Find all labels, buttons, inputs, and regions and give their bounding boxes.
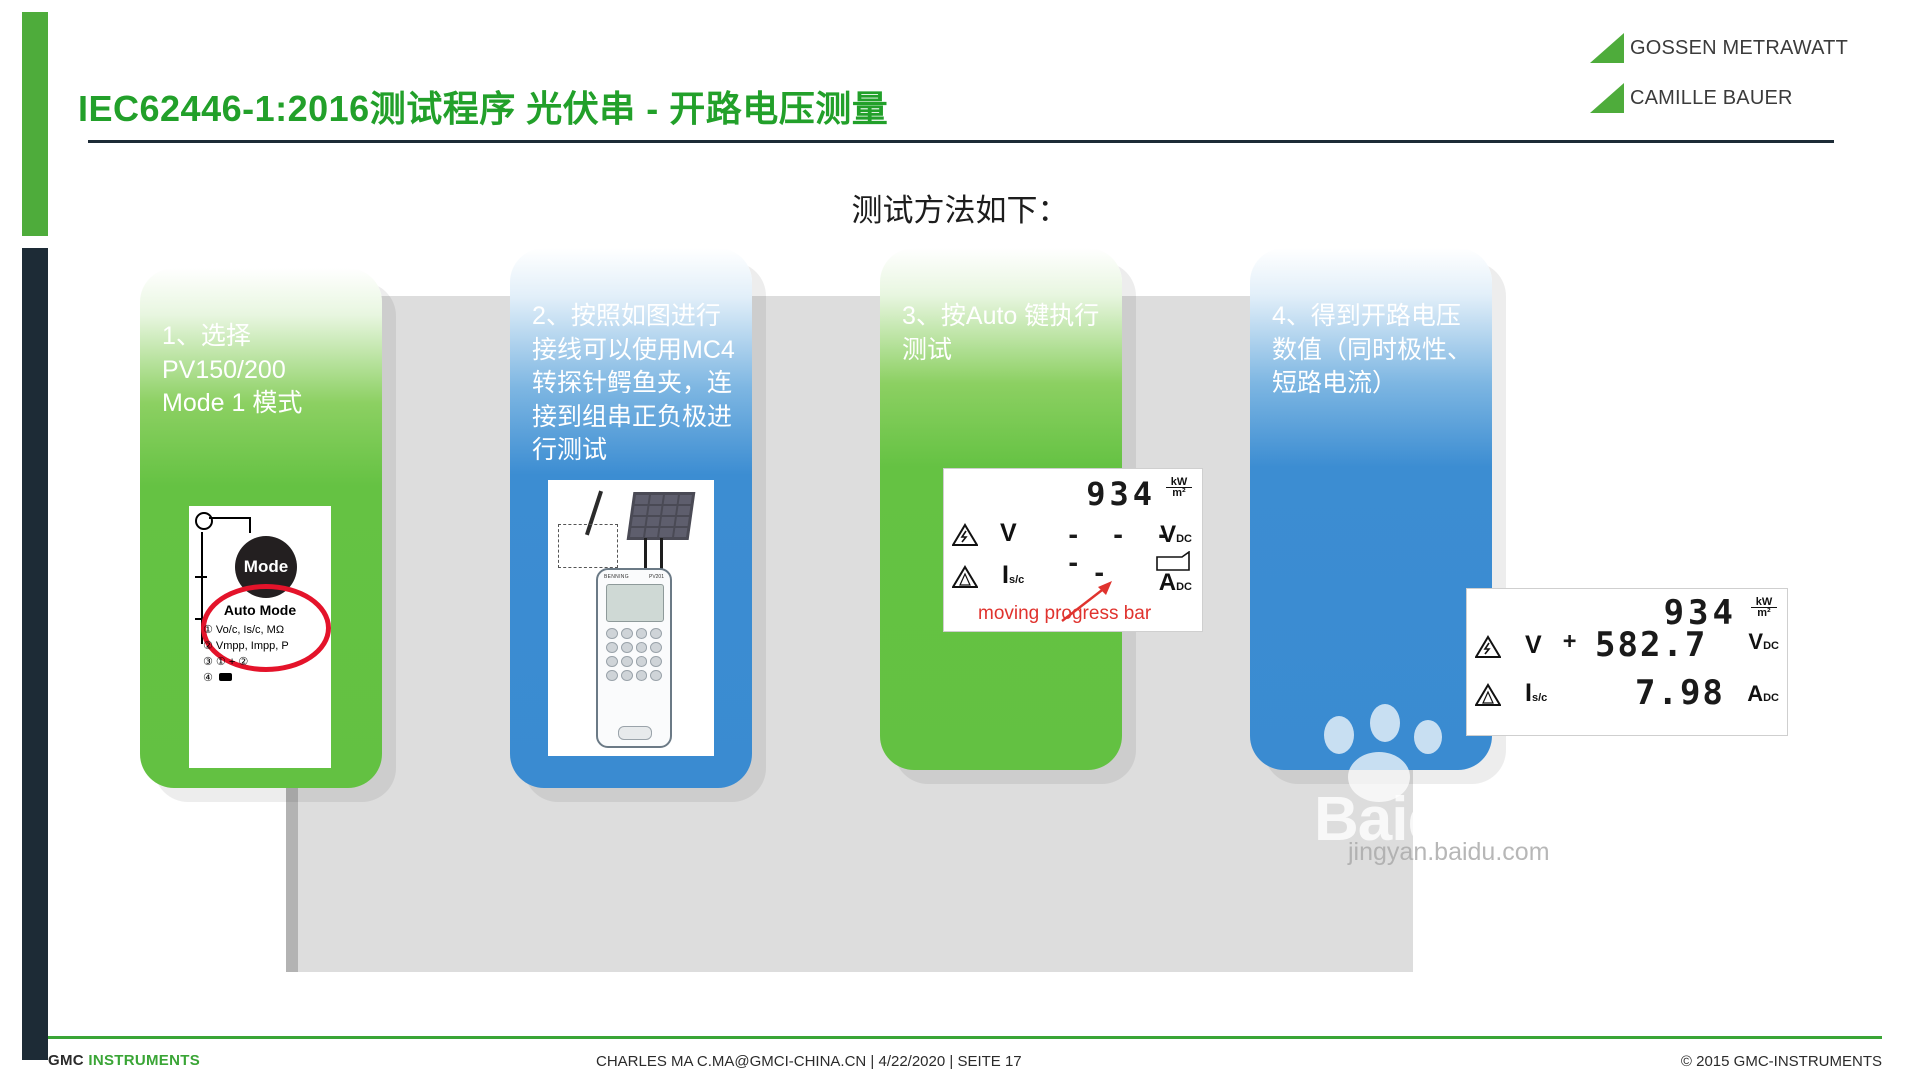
scale-tick [195, 576, 207, 578]
pv-tester-device: BENNING PV201 [596, 568, 672, 748]
lcd4-row1-sign: + [1563, 629, 1576, 654]
lcd4-row2-label-main: I [1525, 679, 1532, 707]
socket-lead [209, 517, 251, 519]
lcd3-irradiance-unit: kW m² [1166, 477, 1192, 499]
footer-divider [48, 1036, 1882, 1039]
lcd3-row2-unit-main: A [1159, 569, 1176, 596]
lcd3-row2-label-sub: s/c [1009, 574, 1024, 586]
step-card-2[interactable]: 2、按照如图进行接线可以使用MC4转探针鳄鱼夹，连接到组串正负极进行测试 BEN… [510, 248, 752, 788]
auto-mode-item-4: ④ [203, 672, 213, 684]
lcd3-row2-unit: ADC [1159, 569, 1192, 597]
step-card-3-text: 3、按Auto 键执行测试 [902, 300, 1106, 367]
auto-mode-item-1: ① Vo/c, Is/c, MΩ [203, 622, 289, 638]
step-card-2-text: 2、按照如图进行接线可以使用MC4转探针鳄鱼夹，连接到组串正负极进行测试 [532, 300, 736, 468]
meter-keypad[interactable] [606, 628, 662, 681]
lcd3-row1-unit: VDC [1160, 521, 1192, 549]
step-card-4[interactable]: 4、得到开路电压数值（同时极性、短路电流） [1250, 248, 1492, 770]
lcd4-row2-unit: ADC [1747, 681, 1779, 707]
battery-icon [1156, 551, 1190, 571]
meter-screen [606, 584, 664, 622]
auto-mode-label: Auto Mode [189, 602, 331, 618]
company-logo: GOSSEN METRAWATT CAMILLE BAUER [1590, 26, 1920, 126]
lcd3-row2-unit-sub: DC [1176, 581, 1192, 593]
lcd4-row2-unit-sub: DC [1763, 692, 1779, 704]
dashed-region [558, 524, 618, 568]
connector-icon [219, 673, 232, 681]
lcd3-row1-label: V [1000, 519, 1017, 548]
triangle-icon [1590, 83, 1624, 113]
lcd4-row1-label: V [1525, 631, 1542, 660]
lcd-display-step3: 934 kW m² V - - - - VDC Is/c - ADC [943, 468, 1203, 632]
logo-text-camille: CAMILLE BAUER [1630, 87, 1793, 110]
lcd3-unit-denominator: m² [1166, 488, 1192, 498]
lcd4-row2-value: 7.98 [1635, 673, 1725, 713]
socket-icon [195, 512, 213, 530]
subtitle: 测试方法如下： [0, 185, 1920, 230]
warning-hv-icon [952, 523, 978, 547]
step-card-1[interactable]: 1、选择 PV150/200 Mode 1 模式 Mode Auto Mode … [140, 268, 382, 788]
lcd4-row1-value: 582.7 [1595, 625, 1707, 665]
triangle-icon [1590, 33, 1624, 63]
lcd3-annotation: moving progress bar [978, 603, 1151, 625]
lcd4-row2-label: Is/c [1525, 679, 1547, 708]
page-title: IEC62446-1:2016测试程序 光伏串 - 开路电压测量 [78, 80, 888, 132]
wiring-illustration: BENNING PV201 [548, 480, 714, 756]
step-card-1-text: 1、选择 PV150/200 Mode 1 模式 [162, 320, 366, 421]
lcd4-row1-unit: VDC [1748, 629, 1779, 655]
lcd3-row1-unit-sub: DC [1176, 533, 1192, 545]
lcd4-row2-unit-main: A [1747, 681, 1763, 706]
lcd3-row2-label: Is/c [1002, 561, 1024, 590]
auto-mode-item-3: ③ ① + ② [203, 654, 289, 670]
warning-icon [952, 565, 978, 589]
footer-brand-suffix: INSTRUMENTS [88, 1052, 200, 1069]
lcd3-row1-unit-main: V [1160, 521, 1176, 548]
footer-brand-prefix: GMC [48, 1052, 88, 1069]
logo-text-gossen: GOSSEN METRAWATT [1630, 37, 1848, 60]
footer-brand: GMC INSTRUMENTS [48, 1052, 200, 1069]
test-lead [644, 538, 647, 570]
footer-copyright: © 2015 GMC-INSTRUMENTS [1681, 1053, 1882, 1070]
socket-lead-corner [249, 517, 251, 533]
test-lead [660, 538, 663, 570]
lcd-display-step4: 934 kW m² V + 582.7 VDC Is/c 7.98 ADC [1466, 588, 1788, 736]
meter-foot [618, 726, 652, 740]
meter-brand-label: BENNING [604, 574, 629, 580]
step-card-4-text: 4、得到开路电压数值（同时极性、短路电流） [1272, 300, 1476, 401]
lcd4-row1-unit-main: V [1748, 629, 1763, 654]
warning-icon [1475, 683, 1501, 707]
lcd4-irradiance-unit: kW m² [1751, 597, 1777, 619]
lcd4-row2-label-sub: s/c [1532, 692, 1547, 704]
title-divider [88, 140, 1834, 143]
footer-meta: CHARLES MA C.MA@GMCI-CHINA.CN | 4/22/202… [596, 1053, 1022, 1070]
logo-row-gossen: GOSSEN METRAWATT [1590, 26, 1920, 70]
lcd3-row2-label-main: I [1002, 561, 1009, 589]
logo-row-camille: CAMILLE BAUER [1590, 76, 1920, 120]
accent-bar-dark [22, 248, 48, 1060]
auto-mode-item-2: ② Vmpp, Impp, P [203, 638, 289, 654]
device-panel-illustration: Mode Auto Mode ① Vo/c, Is/c, MΩ ② Vmpp, … [189, 506, 331, 768]
auto-mode-list: ① Vo/c, Is/c, MΩ ② Vmpp, Impp, P ③ ① + ②… [203, 622, 289, 686]
warning-hv-icon [1475, 635, 1501, 659]
lcd3-irradiance-value: 934 [1086, 475, 1156, 513]
lcd4-unit-denominator: m² [1751, 608, 1777, 618]
meter-model-label: PV201 [649, 574, 664, 580]
pv-panel-icon [627, 492, 696, 540]
lcd4-row1-unit-sub: DC [1763, 640, 1779, 652]
